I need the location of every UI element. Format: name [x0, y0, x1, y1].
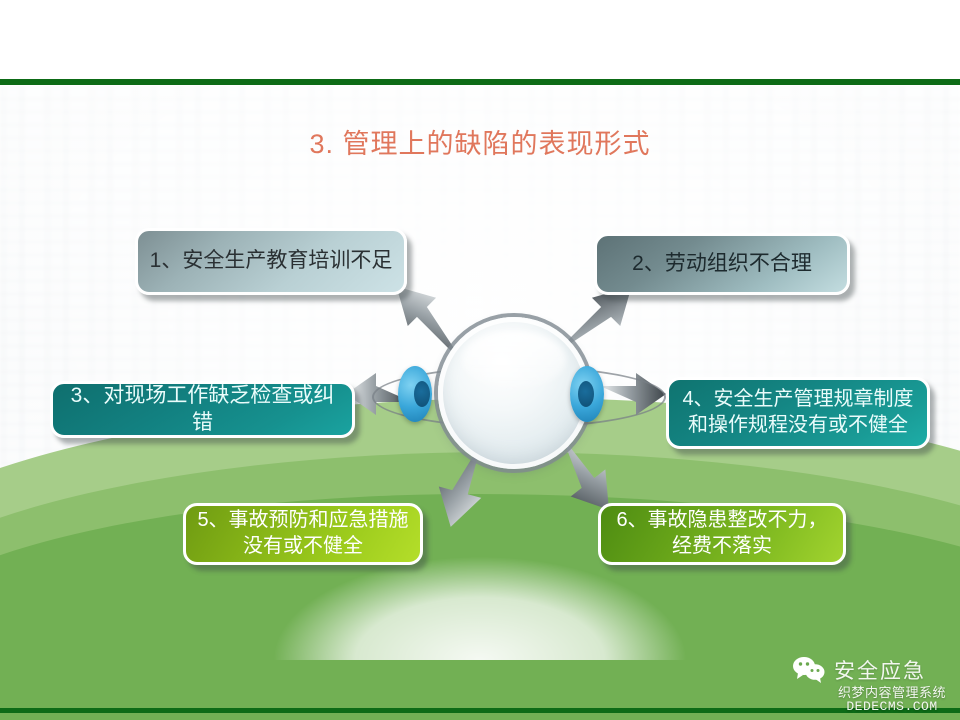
content-box-6-line-2: 经费不落实 — [606, 534, 837, 560]
content-box-6-line-1: 6、事故隐患整改不力， — [606, 508, 837, 534]
content-box-3[interactable]: 3、对现场工作缺乏检查或纠错 — [50, 381, 355, 438]
brand-block: 安全应急 — [792, 655, 926, 685]
sphere-highlight — [462, 331, 566, 389]
sphere-knob-right-core — [578, 381, 594, 407]
content-box-5[interactable]: 5、事故预防和应急措施 没有或不健全 — [183, 503, 423, 565]
content-box-3-line-1: 3、对现场工作缺乏检查或纠错 — [53, 383, 352, 437]
content-box-4[interactable]: 4、安全生产管理规章制度 和操作规程没有或不健全 — [666, 377, 930, 449]
content-box-5-line-1: 5、事故预防和应急措施 — [187, 508, 418, 534]
watermark-block: 织梦内容管理系统 DEDECMS.COM — [838, 686, 946, 715]
content-box-5-line-2: 没有或不健全 — [187, 534, 418, 560]
wechat-icon — [792, 656, 826, 684]
content-box-4-line-2: 和操作规程没有或不健全 — [672, 413, 923, 439]
watermark-cn: 织梦内容管理系统 — [838, 686, 946, 700]
slide-canvas: 3. 管理上的缺陷的表现形式 — [0, 0, 960, 720]
sphere-knob-left-core — [414, 381, 430, 407]
content-box-6[interactable]: 6、事故隐患整改不力， 经费不落实 — [598, 503, 846, 565]
content-box-4-line-1: 4、安全生产管理规章制度 — [672, 387, 923, 413]
content-box-2-line-1: 2、劳动组织不合理 — [622, 251, 822, 278]
content-box-1[interactable]: 1、安全生产教育培训不足 — [135, 228, 407, 295]
watermark-en: DEDECMS.COM — [838, 700, 946, 714]
content-box-2[interactable]: 2、劳动组织不合理 — [594, 233, 850, 295]
content-box-1-line-1: 1、安全生产教育培训不足 — [140, 248, 403, 275]
brand-name: 安全应急 — [834, 655, 926, 685]
